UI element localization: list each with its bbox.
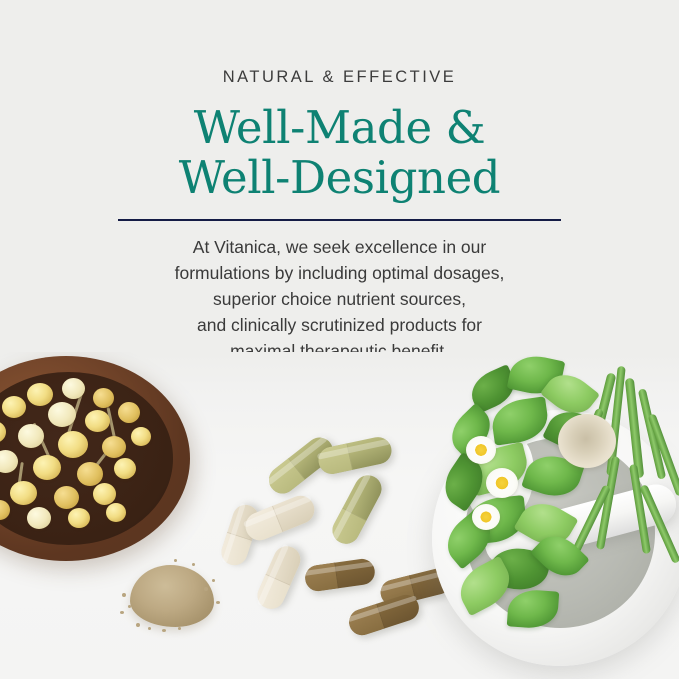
body-line-2: formulations by including optimal dosage…: [0, 260, 679, 286]
brown-capsule: [304, 557, 377, 592]
tablet-seam: [253, 574, 290, 614]
capsule-cap: [346, 604, 385, 639]
capsule-cap: [328, 508, 367, 549]
cream-tablet: [253, 542, 305, 613]
body-line-1: At Vitanica, we seek excellence in our: [0, 234, 679, 260]
powder-pile: [118, 557, 226, 635]
daisy-flower: [472, 504, 500, 530]
chamomile-bowl: [0, 356, 190, 561]
headline-line-1: Well-Made &: [0, 103, 679, 153]
headline-line-2: Well-Designed: [0, 153, 679, 203]
body-line-4: and clinically scrutinized products for: [0, 312, 679, 338]
body-line-3: superior choice nutrient sources,: [0, 286, 679, 312]
green-capsule: [328, 470, 387, 548]
body-paragraph: At Vitanica, we seek excellence in our f…: [0, 234, 679, 364]
eyebrow-text: NATURAL & EFFECTIVE: [0, 68, 679, 87]
daisy-flower: [486, 468, 518, 498]
cream-tablet: [241, 492, 318, 545]
product-photo: [0, 352, 679, 679]
daisy-flower: [466, 436, 496, 464]
page-title: Well-Made & Well-Designed: [0, 103, 679, 203]
capsule-cap: [264, 458, 306, 499]
powder-mound: [130, 565, 214, 627]
capsule-cap: [304, 563, 339, 593]
bowl-interior: [0, 372, 173, 544]
dried-flower-head: [558, 414, 616, 468]
divider-rule: [118, 219, 561, 221]
marketing-banner: NATURAL & EFFECTIVE Well-Made & Well-Des…: [0, 0, 679, 679]
